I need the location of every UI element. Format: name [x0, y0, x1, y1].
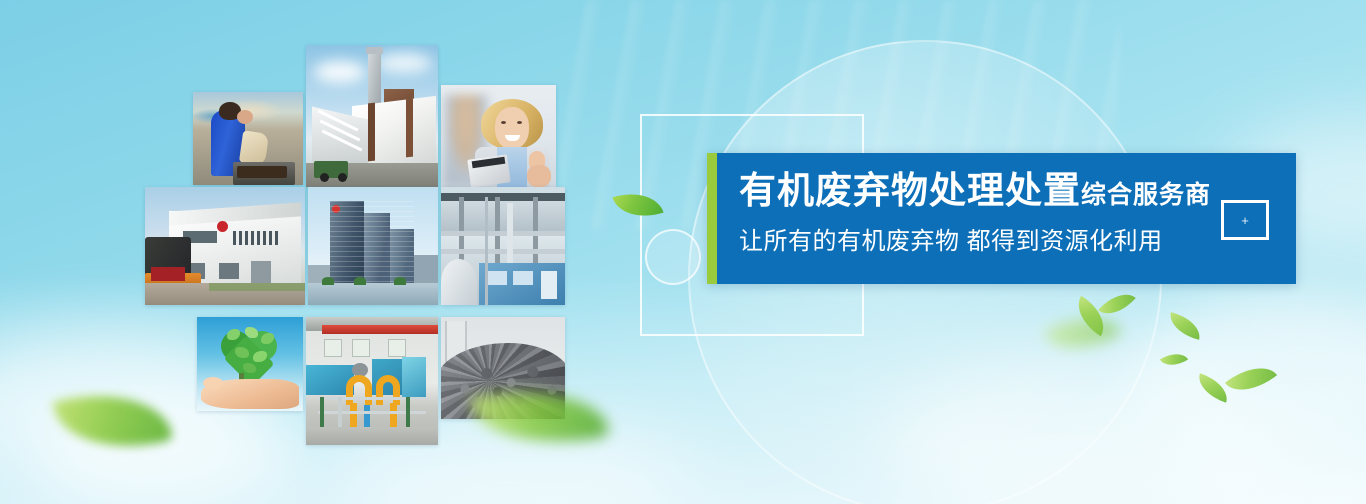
floating-green-leaf — [1160, 347, 1188, 372]
headline-banner: 有机废弃物处理处置综合服务商 让所有的有机废弃物 都得到资源化利用 — [707, 153, 1296, 284]
floating-green-leaf — [1225, 355, 1277, 404]
mosaic-photo-worker[interactable] — [193, 92, 303, 185]
mosaic-photo-leaf-heart-hand[interactable] — [197, 317, 303, 411]
hero-banner-stage: 有机废弃物处理处置综合服务商 让所有的有机废弃物 都得到资源化利用 + — [0, 0, 1366, 504]
banner-accent-bar — [707, 153, 717, 284]
mosaic-photo-businesswoman[interactable] — [441, 85, 556, 187]
photo-mosaic-grid — [145, 45, 565, 445]
plus-icon: + — [1241, 214, 1249, 227]
mosaic-photo-chemical-plant[interactable] — [441, 187, 565, 305]
mosaic-photo-factory-warehouse[interactable] — [145, 187, 305, 305]
mosaic-photo-material-pile[interactable] — [441, 317, 565, 419]
banner-title: 有机废弃物处理处置综合服务商 — [739, 169, 1211, 217]
banner-title-suffix: 综合服务商 — [1081, 181, 1211, 209]
mosaic-photo-incineration-plant[interactable] — [306, 45, 438, 187]
floating-green-leaf — [1166, 312, 1204, 340]
mosaic-photo-workshop-machinery[interactable] — [306, 317, 438, 445]
decorative-small-circle — [645, 229, 701, 285]
expand-plus-button[interactable]: + — [1221, 200, 1269, 240]
banner-subtitle: 让所有的有机废弃物 都得到资源化利用 — [739, 226, 1163, 258]
floating-green-leaf — [1194, 373, 1233, 403]
cloud-bottom-right-b — [1130, 300, 1366, 450]
cloud-bottom-far-right — [1180, 430, 1366, 504]
mosaic-photo-office-towers[interactable] — [308, 187, 438, 305]
banner-title-main: 有机废弃物处理处置 — [739, 170, 1081, 211]
